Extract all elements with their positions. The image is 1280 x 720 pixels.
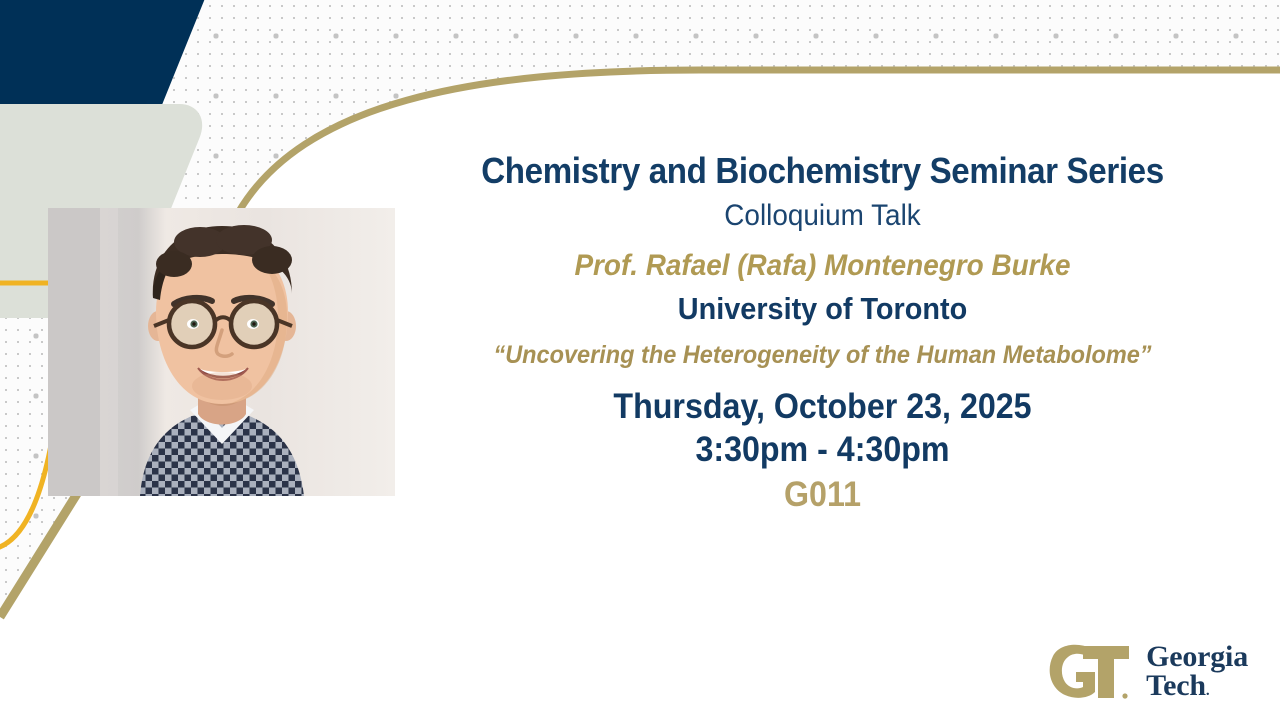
gt-wordmark-line1: Georgia [1146,642,1248,671]
gt-wordmark-line2: Tech [1146,669,1206,702]
speaker-photo [48,208,395,496]
gt-wordmark: Georgia Tech. [1146,642,1248,700]
georgia-tech-logo: Georgia Tech. [1047,640,1248,702]
event-room: G011 [429,474,1216,515]
gt-registered-mark: . [1206,683,1210,699]
talk-type-label: Colloquium Talk [425,198,1220,234]
gt-monogram-icon [1047,640,1133,702]
speaker-name: Prof. Rafael (Rafa) Montenegro Burke [425,248,1220,284]
event-time: 3:30pm - 4:30pm [429,429,1216,470]
seminar-text-block: Chemistry and Biochemistry Seminar Serie… [395,150,1250,516]
seminar-announcement-slide: Chemistry and Biochemistry Seminar Serie… [0,0,1280,720]
event-date: Thursday, October 23, 2025 [429,386,1216,427]
speaker-affiliation: University of Toronto [425,290,1220,327]
talk-title: “Uncovering the Heterogeneity of the Hum… [421,340,1225,370]
page-title: Chemistry and Biochemistry Seminar Serie… [429,150,1216,192]
